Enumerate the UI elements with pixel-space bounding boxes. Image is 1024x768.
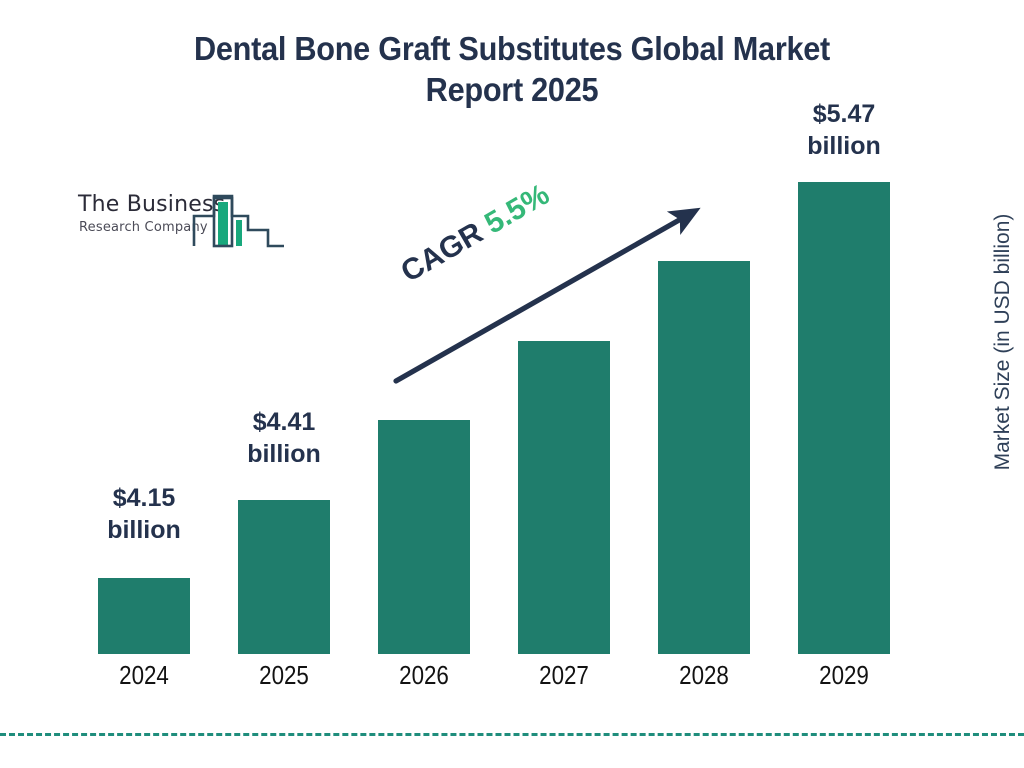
bar-2029[interactable] bbox=[798, 182, 890, 654]
y-axis-title: Market Size (in USD billion) bbox=[991, 177, 1015, 507]
bar-value-2029: $5.47 billion bbox=[752, 98, 936, 162]
x-tick-label-2024: 2024 bbox=[101, 660, 187, 691]
bar-2028[interactable] bbox=[658, 261, 750, 654]
x-tick-label-2026: 2026 bbox=[381, 660, 467, 691]
bar-2024[interactable] bbox=[98, 578, 190, 654]
x-tick-label-2025: 2025 bbox=[241, 660, 327, 691]
bar-2026[interactable] bbox=[378, 420, 470, 654]
bar-chart-plot-area: $4.15 billion $4.41 billion $5.47 billio… bbox=[0, 0, 1024, 768]
bar-2025[interactable] bbox=[238, 500, 330, 654]
chart-page: Dental Bone Graft Substitutes Global Mar… bbox=[0, 0, 1024, 768]
x-tick-label-2029: 2029 bbox=[801, 660, 887, 691]
x-tick-label-2028: 2028 bbox=[661, 660, 747, 691]
bottom-divider bbox=[0, 733, 1024, 736]
bar-2027[interactable] bbox=[518, 341, 610, 654]
bar-value-2024: $4.15 billion bbox=[52, 482, 236, 546]
bar-value-2025: $4.41 billion bbox=[192, 406, 376, 470]
x-tick-label-2027: 2027 bbox=[521, 660, 607, 691]
